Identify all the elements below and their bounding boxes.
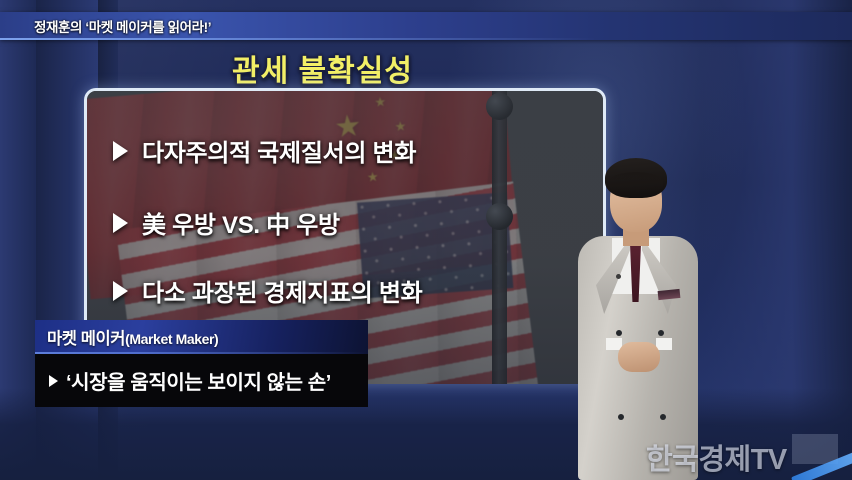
triangle-right-icon: [49, 375, 58, 387]
bullet-label: 다자주의적 국제질서의 변화: [142, 133, 416, 168]
bullet-label: 다소 과장된 경제지표의 변화: [142, 273, 422, 308]
presenter-button: [616, 330, 622, 336]
caption-header-bar: 마켓 메이커(Market Maker): [35, 320, 368, 354]
presenter-lapel-mic: [616, 274, 621, 279]
list-item: 美 우방 VS. 中 우방: [113, 205, 340, 240]
presenter-hands: [618, 342, 660, 372]
caption-body-text: ‘시장을 움직이는 보이지 않는 손’: [66, 366, 331, 395]
presenter-hair: [605, 158, 667, 198]
caption-title: 마켓 메이커(Market Maker): [47, 325, 218, 349]
presenter-button: [658, 330, 664, 336]
triangle-right-icon: [113, 213, 128, 233]
list-item: 다소 과장된 경제지표의 변화: [113, 273, 422, 308]
presenter-figure: [560, 152, 720, 480]
broadcast-screen: 정재훈의 ‘마켓 메이커를 읽어라!’ 관세 불확실성 ★ ★ ★ ★ ★ 다: [0, 0, 852, 480]
triangle-right-icon: [113, 281, 128, 301]
presenter-cuff-right: [656, 338, 672, 350]
caption-title-korean: 마켓 메이커: [47, 330, 125, 348]
lower-third-caption: 마켓 메이커(Market Maker) ‘시장을 움직이는 보이지 않는 손’: [35, 320, 368, 407]
logo-backing-plate: [792, 434, 838, 464]
caption-body-bar: ‘시장을 움직이는 보이지 않는 손’: [35, 354, 368, 407]
bullet-label: 美 우방 VS. 中 우방: [142, 205, 340, 240]
presenter-button: [618, 414, 624, 420]
list-item: 다자주의적 국제질서의 변화: [113, 133, 416, 168]
presenter-button: [660, 414, 666, 420]
headline-text: 관세 불확실성: [232, 46, 413, 90]
triangle-right-icon: [113, 141, 128, 161]
program-title-ribbon: 정재훈의 ‘마켓 메이커를 읽어라!’: [0, 12, 852, 40]
program-title-text: 정재훈의 ‘마켓 메이커를 읽어라!’: [34, 16, 211, 36]
station-logo: 한국경제TV: [646, 436, 787, 478]
caption-title-english: (Market Maker): [125, 331, 218, 347]
